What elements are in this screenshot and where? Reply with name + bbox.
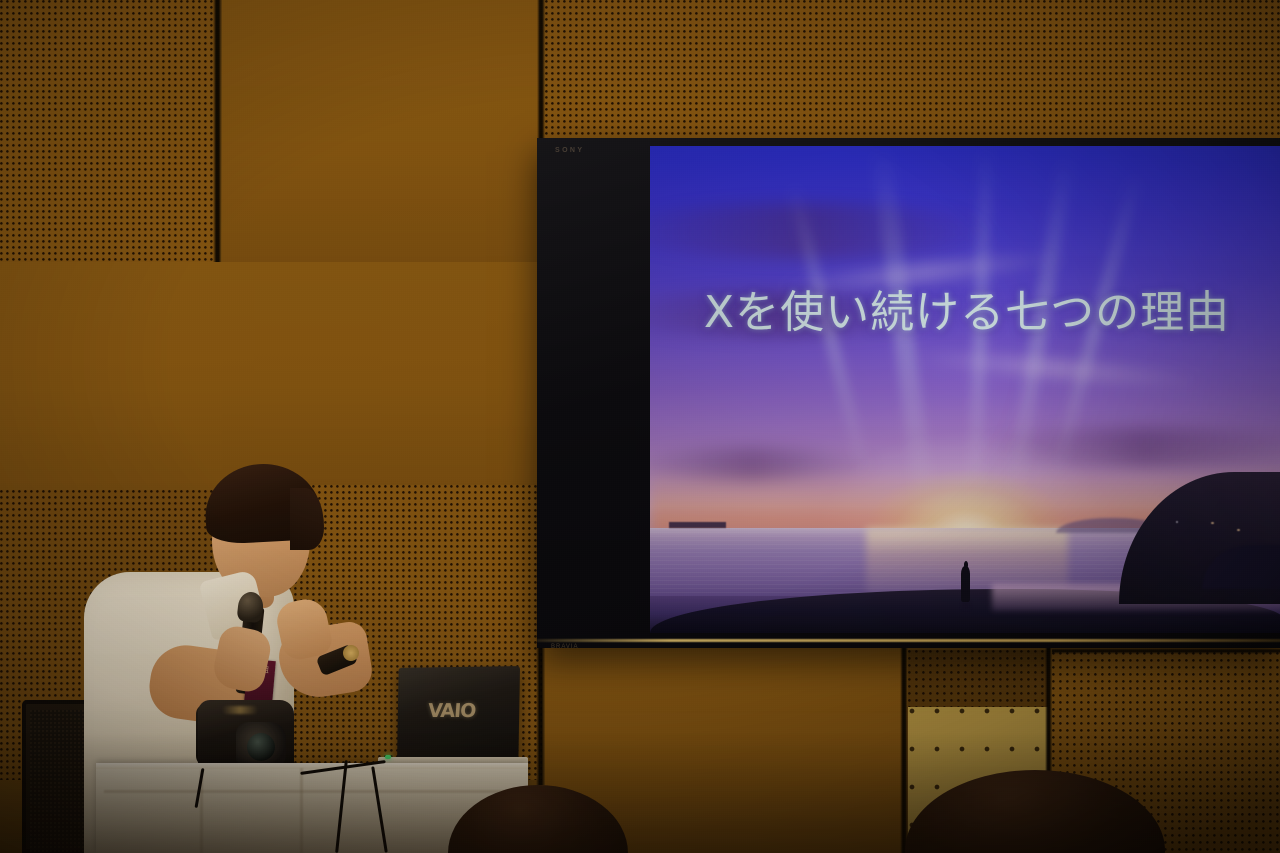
wall-seam-vertical-2 xyxy=(537,0,545,140)
slide-person-reflection xyxy=(962,601,970,609)
slide-breakwater xyxy=(669,522,726,528)
vaio-logo: VAIO xyxy=(427,700,476,722)
tv-bottom-bezel-highlight xyxy=(537,639,1280,642)
wall-panel-perforated-top-right xyxy=(545,0,1280,142)
tv-model-label: BRAVIA xyxy=(551,644,579,650)
slide-person-head xyxy=(964,561,968,568)
camera-highlight xyxy=(222,706,258,714)
display-screen: Xを使い続ける七つの理由 xyxy=(650,146,1280,633)
slide-shore-light-1 xyxy=(1237,529,1240,531)
laptop-power-led xyxy=(385,755,391,759)
wall-panel-dark-accent xyxy=(908,650,1048,707)
wall-panel-perforated-upper-left xyxy=(0,0,215,262)
slide-person-silhouette xyxy=(961,566,970,602)
presentation-photo: SONY xyxy=(0,0,1280,853)
wall-seam-horizontal xyxy=(1052,648,1280,654)
camera-lens-glass xyxy=(247,733,275,761)
wall-seam-vertical xyxy=(213,0,222,262)
tablecloth-fold-3 xyxy=(104,790,524,793)
wall-panel-smooth-center xyxy=(222,262,542,485)
table-top-edge xyxy=(96,763,528,769)
sony-logo: SONY xyxy=(555,147,584,154)
presentation-slide: Xを使い続ける七つの理由 xyxy=(650,146,1280,633)
wall-panel-smooth-upper xyxy=(222,0,542,262)
television-display: SONY xyxy=(537,138,1280,648)
slide-title: Xを使い続ける七つの理由 xyxy=(650,146,1280,340)
wall-panel-smooth-left-mid xyxy=(0,262,222,490)
tablecloth-fold-2 xyxy=(300,768,303,853)
wall-seam-vertical-4 xyxy=(900,648,908,853)
